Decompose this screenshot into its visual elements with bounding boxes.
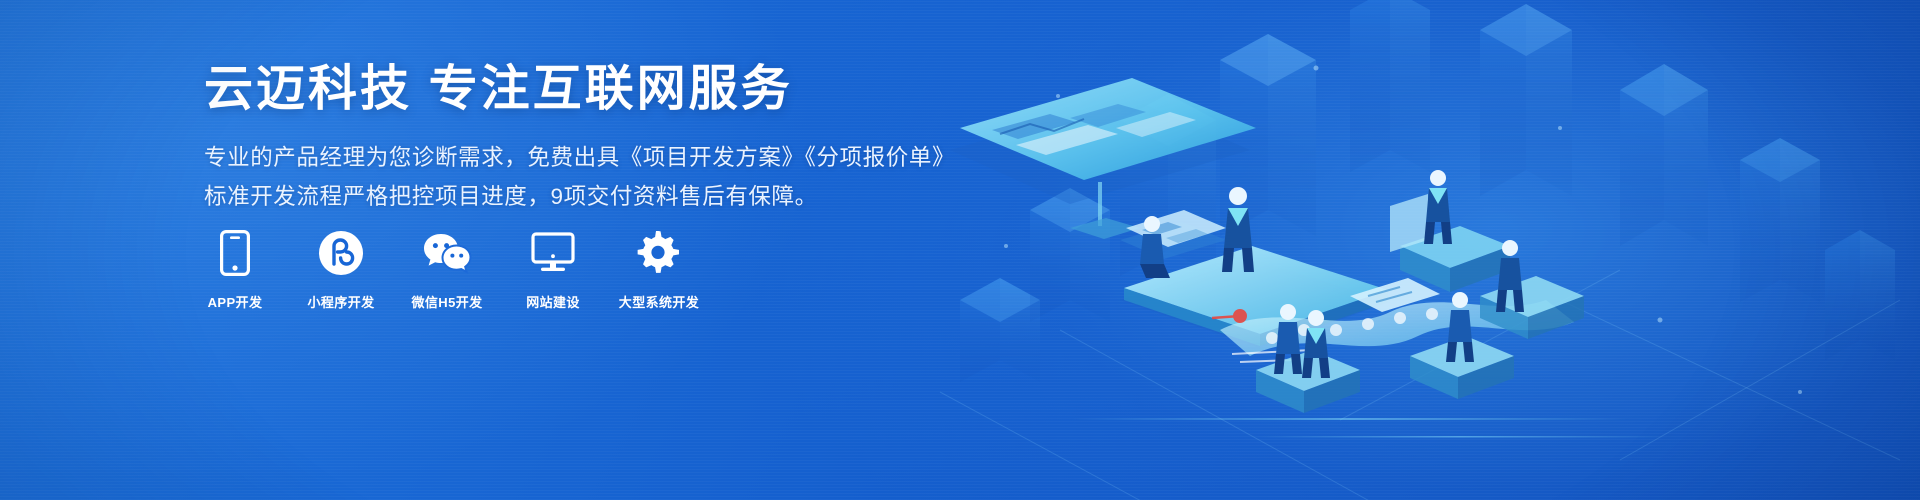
service-label: 微信H5开发: [411, 292, 482, 311]
mini-program-icon: [318, 228, 364, 278]
service-item-app[interactable]: APP开发: [204, 228, 266, 311]
banner-subtitle: 专业的产品经理为您诊断需求，免费出具《项目开发方案》《分项报价单》 标准开发流程…: [204, 139, 964, 216]
page-title: 云迈科技 专注互联网服务: [204, 62, 964, 117]
service-item-large-system[interactable]: 大型系统开发: [628, 228, 690, 311]
service-label: 网站建设: [526, 292, 580, 311]
service-label: APP开发: [208, 292, 263, 311]
service-label: 大型系统开发: [619, 292, 699, 311]
subtitle-line-1: 专业的产品经理为您诊断需求，免费出具《项目开发方案》《分项报价单》: [204, 145, 955, 170]
gear-icon: [637, 228, 681, 278]
subtitle-line-2: 标准开发流程严格把控项目进度，9项交付资料售后有保障。: [204, 178, 964, 217]
promo-banner: 云迈科技 专注互联网服务 专业的产品经理为您诊断需求，免费出具《项目开发方案》《…: [0, 0, 1920, 500]
wechat-icon: [422, 228, 472, 278]
banner-copy: 云迈科技 专注互联网服务 专业的产品经理为您诊断需求，免费出具《项目开发方案》《…: [204, 62, 964, 216]
service-list: APP开发 小程序开发: [204, 228, 690, 311]
service-label: 小程序开发: [308, 292, 375, 311]
service-item-wechat-h5[interactable]: 微信H5开发: [416, 228, 478, 311]
mobile-phone-icon: [220, 228, 250, 278]
isometric-tech-illustration: [920, 0, 1920, 500]
monitor-icon: [531, 228, 575, 278]
service-item-mini-program[interactable]: 小程序开发: [310, 228, 372, 311]
service-item-website[interactable]: 网站建设: [522, 228, 584, 311]
